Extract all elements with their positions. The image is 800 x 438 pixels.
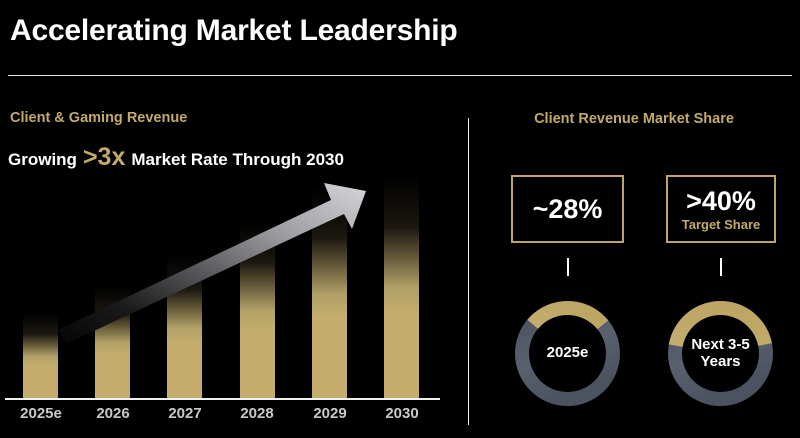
- stat-box-target-share: >40% Target Share: [666, 175, 776, 243]
- stat-value-target: >40%: [686, 188, 756, 215]
- right-panel-market-share: Client Revenue Market Share ~28% >40% Ta…: [468, 95, 800, 438]
- slide-root: Accelerating Market Leadership Client & …: [0, 0, 800, 438]
- bar-label-2028: 2028: [222, 405, 292, 422]
- header-divider: [8, 75, 792, 76]
- donut-chart-target: Next 3-5 Years: [668, 301, 773, 406]
- bar-2027: [167, 251, 202, 398]
- right-panel-eyebrow: Client Revenue Market Share: [468, 111, 800, 127]
- page-title: Accelerating Market Leadership: [10, 14, 458, 48]
- donut-label-target: Next 3-5 Years: [668, 301, 773, 406]
- stat-box-current-share: ~28%: [511, 175, 624, 243]
- bar-label-2030: 2030: [367, 405, 437, 422]
- bar-label-2025e: 2025e: [6, 405, 76, 422]
- bar-2026: [95, 282, 130, 398]
- chart-baseline-axis: [5, 398, 440, 400]
- stat-sublabel-target: Target Share: [682, 218, 761, 231]
- bar-label-2029: 2029: [295, 405, 365, 422]
- bar-2025e: [23, 311, 58, 398]
- connector-line-target: [720, 258, 722, 276]
- bar-label-2027: 2027: [150, 405, 220, 422]
- bar-2028: [240, 214, 275, 398]
- left-panel-revenue: Client & Gaming Revenue Growing >3x Mark…: [0, 95, 462, 438]
- donut-label-current: 2025e: [515, 301, 620, 406]
- bar-label-2026: 2026: [78, 405, 148, 422]
- donut-chart-current: 2025e: [515, 301, 620, 406]
- bar-2030: [384, 167, 419, 398]
- bar-2029: [312, 181, 347, 398]
- stat-value-current: ~28%: [533, 196, 603, 223]
- connector-line-current: [567, 258, 569, 276]
- revenue-bar-chart: 2025e 2026 2027 2028 2029 2030: [0, 95, 462, 438]
